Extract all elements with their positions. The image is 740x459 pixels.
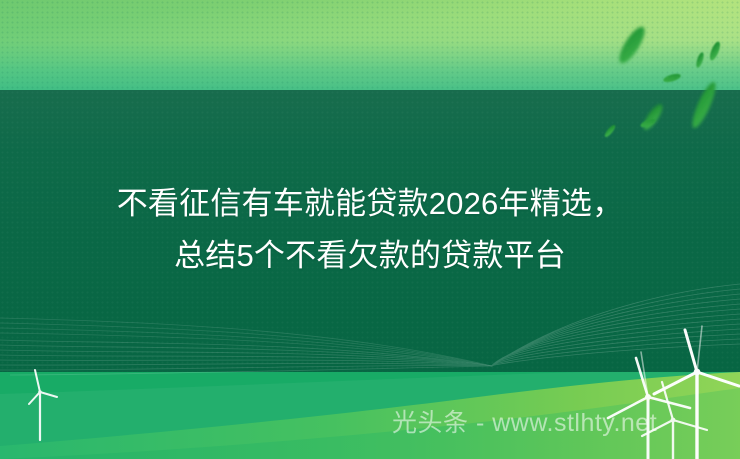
banner-title: 不看征信有车就能贷款2026年精选， 总结5个不看欠款的贷款平台 — [0, 178, 740, 282]
watermark: 光头条 - www.stlhty.net — [392, 406, 657, 440]
banner-image: 不看征信有车就能贷款2026年精选， 总结5个不看欠款的贷款平台 光头条 - w… — [0, 0, 740, 459]
banner-title-line-1: 不看征信有车就能贷款2026年精选， — [0, 178, 740, 230]
dot-grid-texture-icon — [0, 0, 740, 90]
banner-title-line-2: 总结5个不看欠款的贷款平台 — [0, 230, 740, 282]
